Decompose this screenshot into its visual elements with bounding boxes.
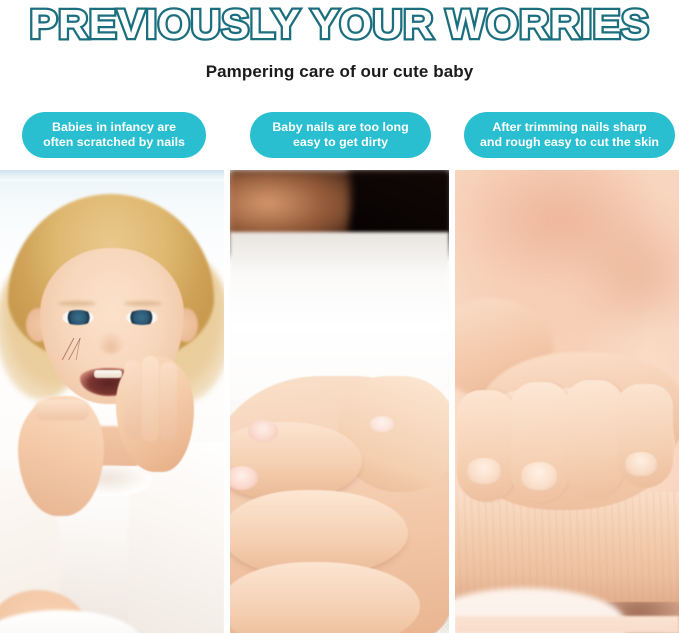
panel-3-bottom-edge bbox=[455, 616, 679, 633]
baby-nail-a bbox=[248, 420, 278, 442]
baby-teeth bbox=[94, 370, 122, 378]
page-title: PREVIOUSLY YOUR WORRIES bbox=[0, 2, 679, 46]
caption-badge-3: After trimming nails sharp and rough eas… bbox=[464, 112, 675, 158]
baby-sleeve-right bbox=[128, 442, 224, 633]
baby-eye-right bbox=[126, 310, 158, 325]
baby-nail-i bbox=[467, 458, 501, 484]
baby-nose bbox=[98, 332, 124, 354]
caption-badge-2: Baby nails are too long easy to get dirt… bbox=[250, 112, 431, 158]
baby-eyebrow-right bbox=[124, 301, 162, 306]
baby-hand-left-fingers bbox=[34, 400, 90, 420]
baby-finger-3 bbox=[160, 362, 177, 442]
caption-badge-3-line1: After trimming nails sharp bbox=[480, 120, 659, 135]
baby-eye-left bbox=[62, 310, 94, 325]
photo-panel-baby-face bbox=[0, 170, 224, 633]
panel-1-top-strip bbox=[0, 170, 224, 181]
white-sheet bbox=[230, 232, 449, 400]
baby-eyebrow-left bbox=[58, 301, 96, 306]
baby-nail-iv bbox=[625, 452, 657, 476]
caption-badge-2-line1: Baby nails are too long bbox=[272, 120, 408, 135]
baby-nail-ii bbox=[521, 462, 557, 490]
caption-badge-1-line2: often scratched by nails bbox=[43, 135, 185, 150]
blurred-shadow bbox=[575, 210, 679, 340]
photo-panel-sharp-nails bbox=[455, 170, 679, 633]
baby-finger-2 bbox=[142, 356, 159, 442]
promo-image-root: PREVIOUSLY YOUR WORRIES Pampering care o… bbox=[0, 0, 679, 633]
baby-finger-i bbox=[457, 390, 515, 502]
page-subtitle: Pampering care of our cute baby bbox=[0, 62, 679, 82]
caption-badge-2-line2: easy to get dirty bbox=[272, 135, 408, 150]
baby-nail-c bbox=[370, 416, 394, 432]
caption-badge-3-line2: and rough easy to cut the skin bbox=[480, 135, 659, 150]
cheek-scratch-marks bbox=[52, 338, 86, 360]
baby-finger-1 bbox=[124, 360, 141, 438]
baby-nail-iii bbox=[575, 456, 611, 484]
caption-badge-1: Babies in infancy are often scratched by… bbox=[22, 112, 206, 158]
caption-badge-1-line1: Babies in infancy are bbox=[43, 120, 185, 135]
photo-panel-long-nails bbox=[230, 170, 449, 633]
